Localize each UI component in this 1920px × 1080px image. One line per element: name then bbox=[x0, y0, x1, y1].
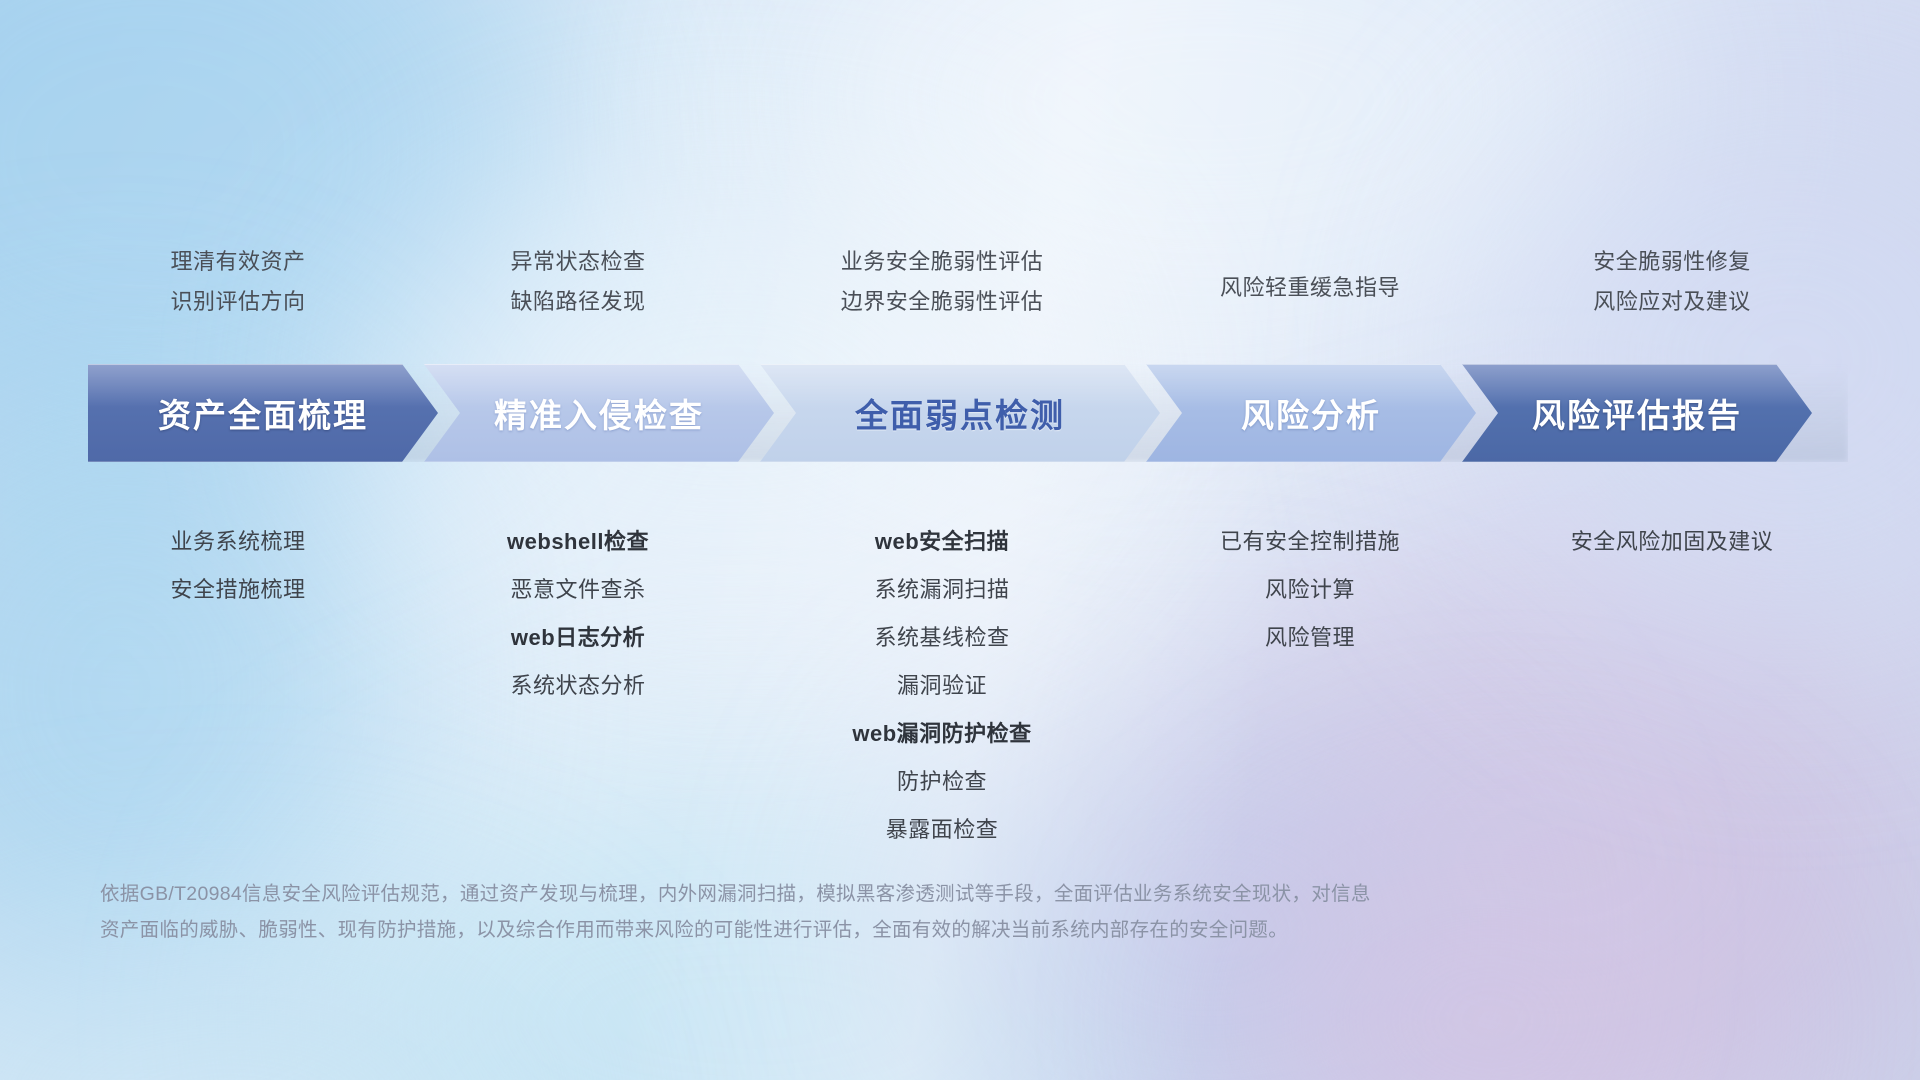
process-stage-1[interactable]: 资产全面梳理 bbox=[88, 364, 438, 462]
top-annotation-item: 安全脆弱性修复 bbox=[1372, 242, 1920, 282]
stage-label: 精准入侵检查 bbox=[494, 389, 704, 437]
top-annotation-item: 风险应对及建议 bbox=[1372, 282, 1920, 322]
bottom-detail-item: 风险计算 bbox=[1010, 566, 1610, 614]
stage-label: 全面弱点检测 bbox=[855, 389, 1065, 437]
bottom-detail-item: 漏洞验证 bbox=[642, 662, 1242, 710]
stage-label: 资产全面梳理 bbox=[158, 389, 368, 437]
footer-line-1: 依据GB/T20984信息安全风险评估规范，通过资产发现与梳理，内外网漏洞扫描，… bbox=[100, 876, 1620, 912]
bottom-detail-item: 安全风险加固及建议 bbox=[1372, 518, 1920, 566]
footer-line-2: 资产面临的威胁、脆弱性、现有防护措施，以及综合作用而带来风险的可能性进行评估，全… bbox=[100, 912, 1620, 948]
process-stage-3[interactable]: 全面弱点检测 bbox=[760, 364, 1160, 462]
process-stage-4[interactable]: 风险分析 bbox=[1146, 364, 1476, 462]
footer-description: 依据GB/T20984信息安全风险评估规范，通过资产发现与梳理，内外网漏洞扫描，… bbox=[100, 876, 1620, 948]
process-chevron-bar: 资产全面梳理精准入侵检查全面弱点检测风险分析风险评估报告 bbox=[88, 364, 1848, 462]
bottom-detail-item: 风险管理 bbox=[1010, 614, 1610, 662]
bottom-detail-item: web漏洞防护检查 bbox=[642, 710, 1242, 758]
bottom-detail-item: 暴露面检查 bbox=[642, 806, 1242, 854]
bottom-detail-item: 防护检查 bbox=[642, 758, 1242, 806]
process-diagram: 理清有效资产识别评估方向异常状态检查缺陷路径发现业务安全脆弱性评估边界安全脆弱性… bbox=[0, 0, 1920, 1080]
top-annotation-column-5: 安全脆弱性修复风险应对及建议 bbox=[1372, 242, 1920, 322]
stage-label: 风险评估报告 bbox=[1532, 389, 1742, 437]
bottom-detail-column-5: 安全风险加固及建议 bbox=[1372, 518, 1920, 566]
process-stage-5[interactable]: 风险评估报告 bbox=[1462, 364, 1812, 462]
stage-label: 风险分析 bbox=[1241, 389, 1381, 437]
process-stage-2[interactable]: 精准入侵检查 bbox=[424, 364, 774, 462]
